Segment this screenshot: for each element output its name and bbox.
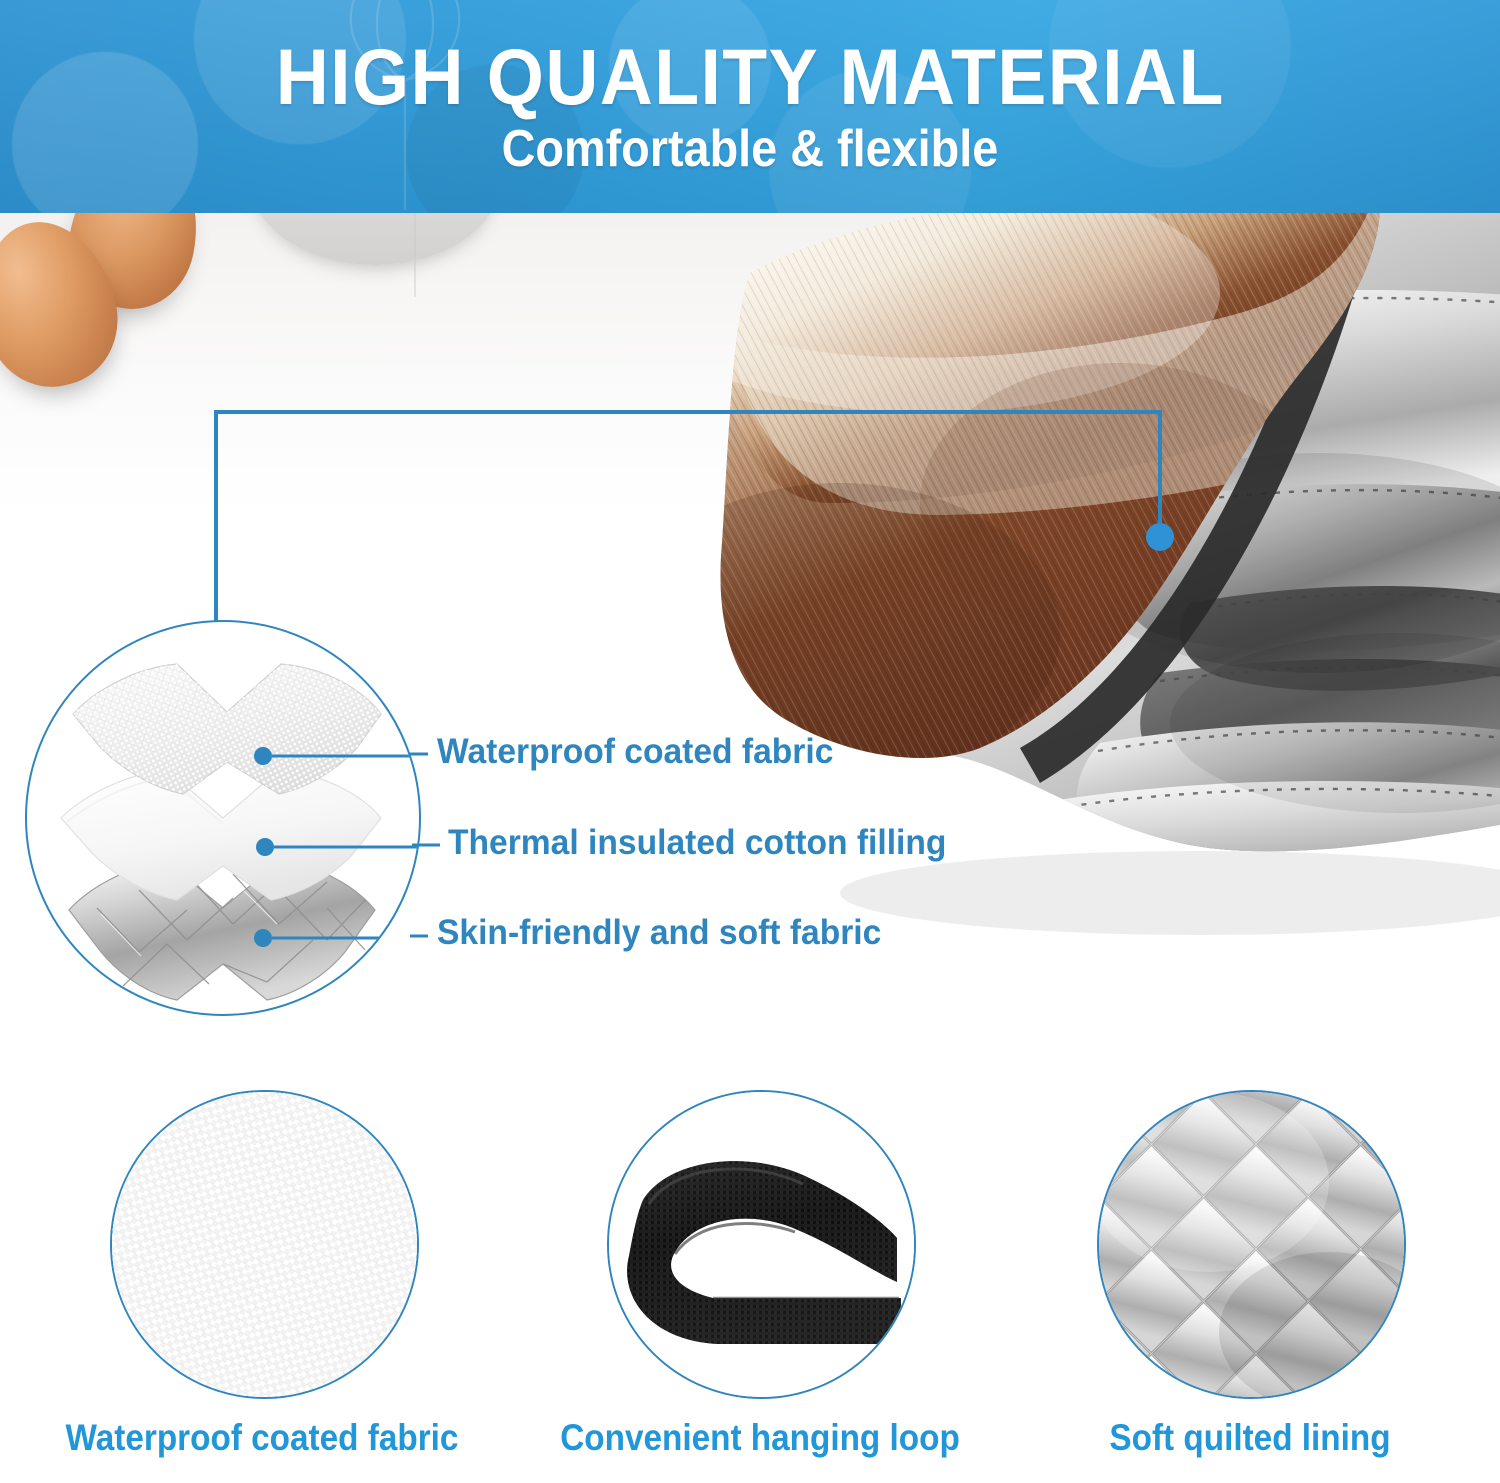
feature-caption-convenient-hanging-loop: Convenient hanging loop	[526, 1417, 994, 1459]
layer-label-thermal-insulated-cotton-filling: Thermal insulated cotton filling	[448, 823, 946, 863]
infographic-page: HIGH QUALITY MATERIAL Comfortable & flex…	[0, 0, 1500, 1483]
feature-caption-waterproof-coated-fabric: Waterproof coated fabric	[28, 1417, 496, 1459]
layer-label-skin-friendly-soft-fabric: Skin-friendly and soft fabric	[437, 913, 881, 953]
feature-circle-waterproof-coated-fabric	[110, 1090, 419, 1399]
oven-mitt-photo	[500, 213, 1500, 1033]
layer-waterproof-coated-fabric	[73, 664, 381, 794]
layer-label-waterproof-coated-fabric: Waterproof coated fabric	[437, 732, 833, 772]
page-title: HIGH QUALITY MATERIAL	[275, 38, 1224, 115]
banner-text-group: HIGH QUALITY MATERIAL Comfortable & flex…	[0, 0, 1500, 213]
header-banner: HIGH QUALITY MATERIAL Comfortable & flex…	[0, 0, 1500, 213]
feature-circle-soft-quilted-lining	[1097, 1090, 1406, 1399]
feature-caption-soft-quilted-lining: Soft quilted lining	[1016, 1417, 1484, 1459]
feature-circle-convenient-hanging-loop	[607, 1090, 916, 1399]
layer-skin-friendly-soft-fabric	[69, 862, 375, 1000]
page-subtitle: Comfortable & flexible	[502, 123, 999, 175]
feature-row: Waterproof coated fabric Convenient hang…	[0, 1085, 1500, 1483]
material-layers-detail-circle	[25, 620, 421, 1016]
whisk-icon-photo	[300, 213, 530, 297]
